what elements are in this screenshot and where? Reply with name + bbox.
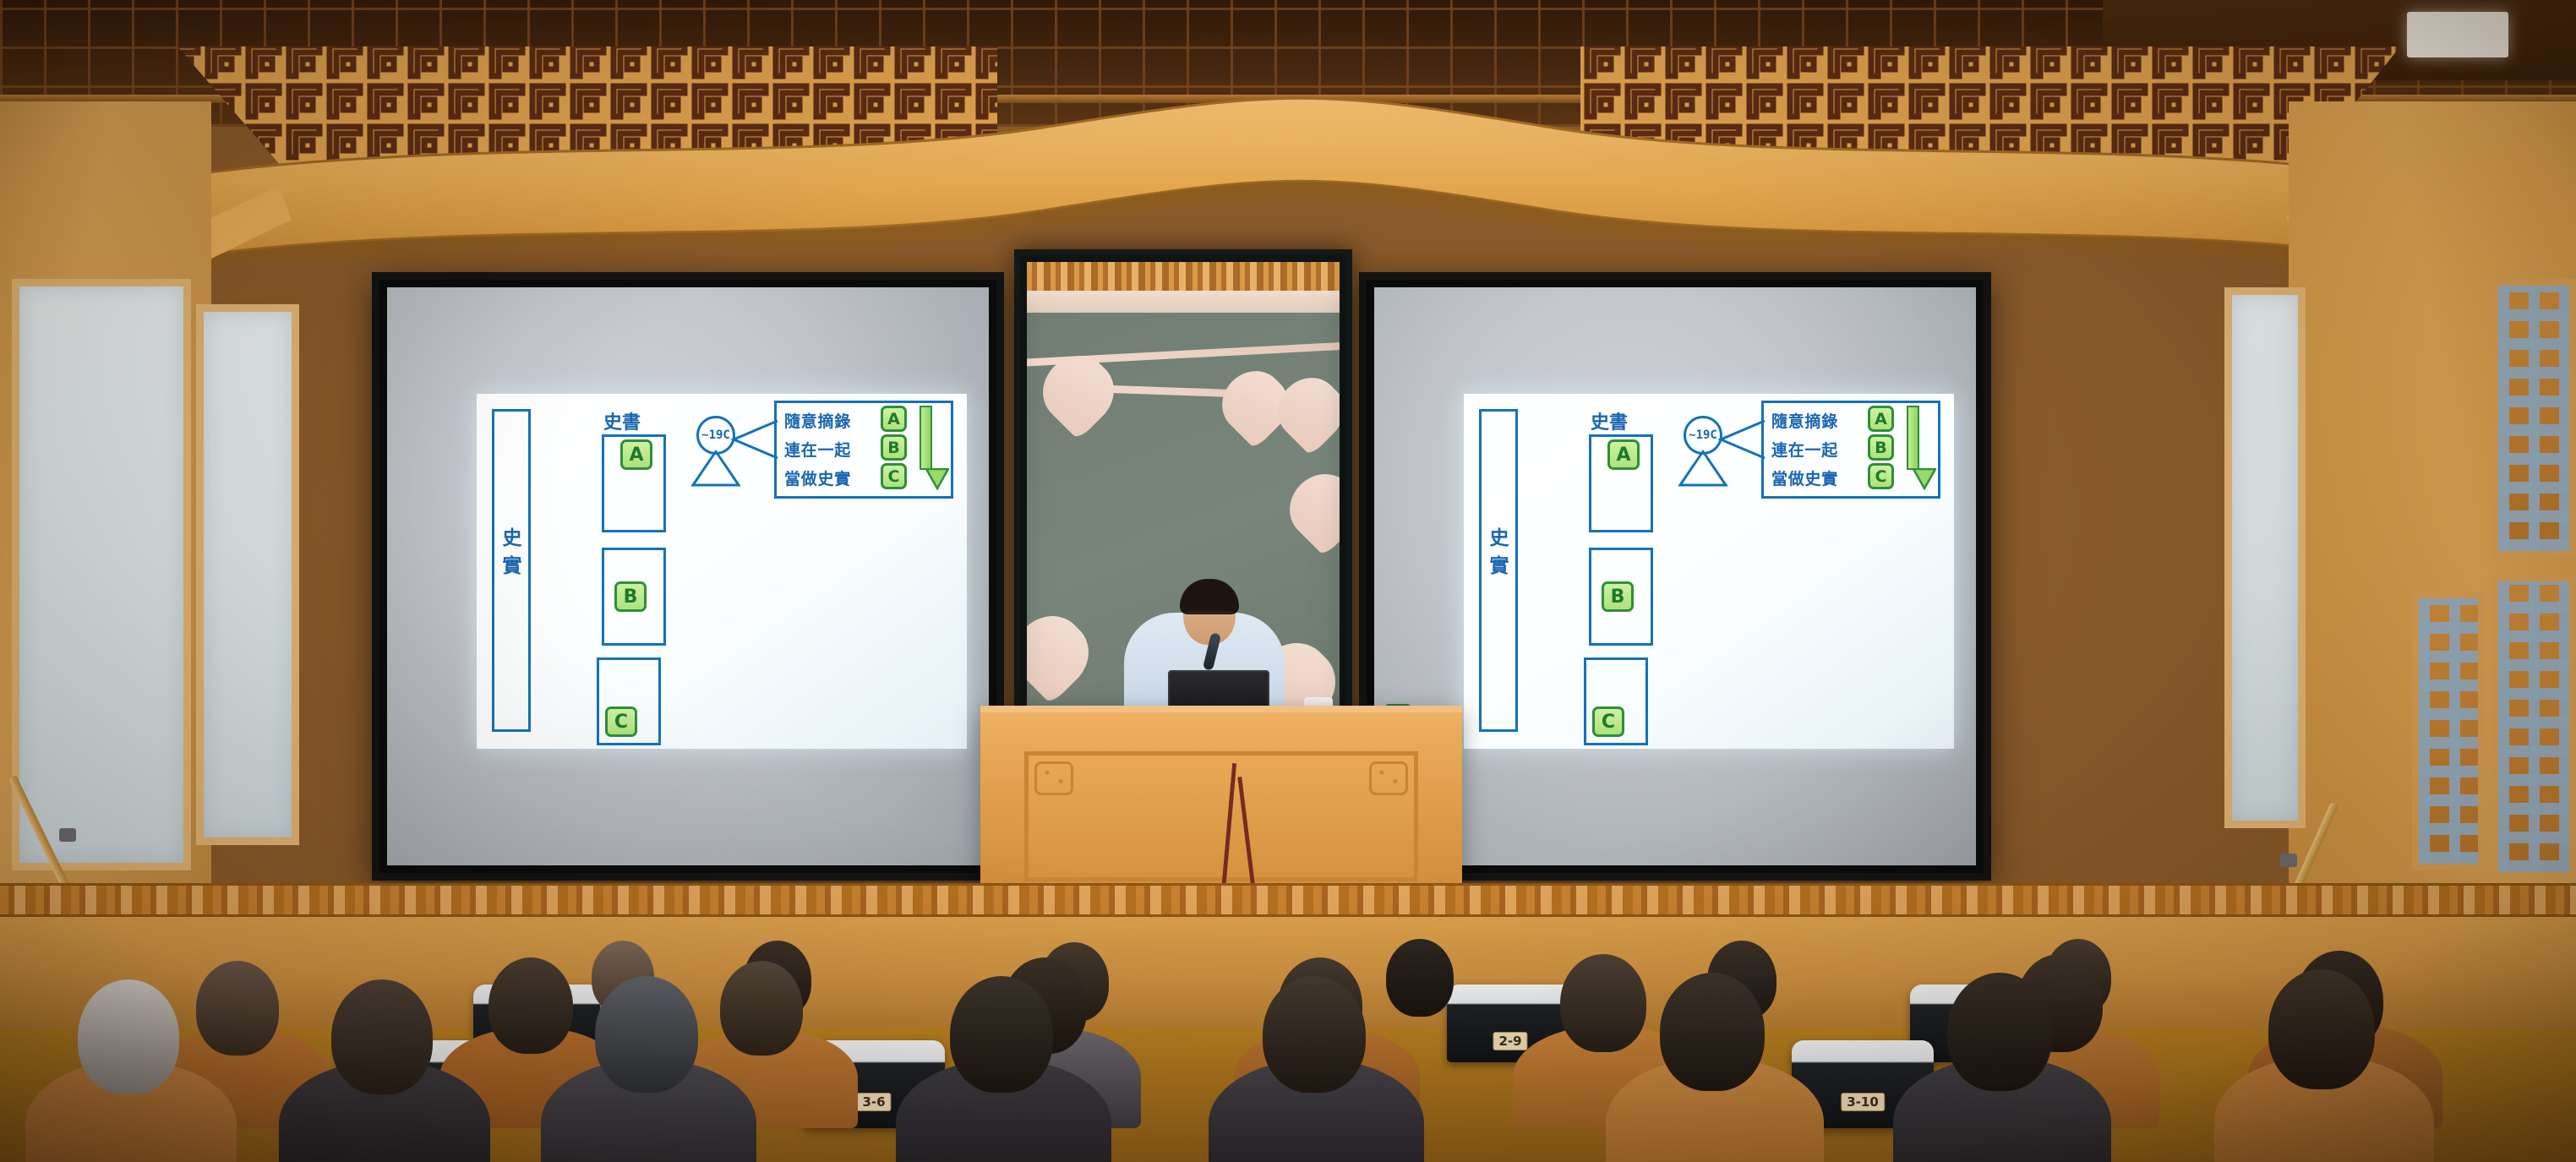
slide-bubble-line-3: 當做史實 — [784, 466, 851, 489]
slide-chip-b: B — [1602, 581, 1634, 612]
slide-arrow-shaft — [920, 406, 932, 470]
lattice-panel-right-inner — [2412, 592, 2485, 870]
lattice-panel-right-bottom — [2491, 575, 2576, 879]
slide-bubble-line-2: 連在一起 — [1771, 438, 1838, 461]
mural-band-upper — [1027, 291, 1340, 313]
right-slide: 史實 史書 A B C ~19C — [1464, 394, 1954, 749]
slide-axis-label: 史實 — [499, 527, 519, 582]
slide-chip-c: C — [1592, 706, 1624, 737]
slide-stack-a: A — [1868, 406, 1894, 432]
slide-bubble-line-2: 連在一起 — [784, 438, 851, 461]
slide-bubble-line-1: 隨意摘錄 — [1771, 409, 1838, 432]
audience-head — [950, 976, 1053, 1093]
audience-head — [1660, 973, 1765, 1091]
slide-arrow-shaft — [1907, 406, 1919, 470]
slide-bubble-line-1: 隨意摘錄 — [784, 409, 851, 432]
flag-bracket-left — [59, 828, 76, 842]
audience-head — [78, 979, 179, 1094]
slide-bubble-line-3: 當做史實 — [1771, 466, 1838, 489]
wall-panel-left-1 — [12, 279, 191, 870]
slide-column-label: 史書 — [603, 407, 641, 434]
presenter-glasses — [1187, 611, 1232, 621]
slide-chip-c: C — [605, 706, 637, 737]
left-screen-surface: 史實 史書 A B C ~19C — [387, 287, 989, 865]
slide-axis-label: 史實 — [1487, 527, 1506, 582]
audience-head — [1263, 976, 1366, 1093]
left-slide: 史實 史書 A B C ~19C — [477, 394, 967, 749]
podium-corner-carving-left — [1034, 761, 1073, 795]
podium — [980, 706, 1462, 900]
slide-chip-a: A — [620, 439, 652, 470]
slide-stack-a: A — [881, 406, 907, 432]
podium-panel — [1024, 751, 1418, 881]
slide-column-label: 史書 — [1591, 407, 1628, 434]
audience-head — [2268, 969, 2375, 1089]
right-screen-surface: 史實 史書 A B C ~19C — [1374, 287, 1976, 865]
flag-bracket-right — [2280, 854, 2297, 867]
audience-row-front — [0, 968, 2576, 1162]
wall-panel-right-1 — [2224, 287, 2306, 828]
slide-stack-c: C — [881, 463, 907, 489]
podium-corner-carving-right — [1369, 761, 1408, 795]
slide-chip-b: B — [614, 581, 647, 612]
slide-chip-a: A — [1607, 439, 1640, 470]
slide-stack-b: B — [881, 434, 907, 461]
mural-leaf-4 — [1276, 461, 1340, 556]
slide-stack-b: B — [1868, 434, 1894, 461]
lattice-panel-right-top — [2491, 279, 2576, 558]
audience-head — [331, 979, 433, 1094]
slide-stack-c: C — [1868, 463, 1894, 489]
left-screen[interactable]: 史實 史書 A B C ~19C — [372, 272, 1004, 881]
mural-leaf-5 — [1027, 602, 1103, 705]
audience-head — [595, 976, 698, 1093]
audience-head — [1947, 973, 2052, 1091]
wall-panel-left-2 — [196, 304, 299, 845]
mural-scroll-border — [1027, 262, 1340, 291]
lecture-hall-scene: 史實 史書 A B C ~19C — [0, 0, 2576, 1162]
